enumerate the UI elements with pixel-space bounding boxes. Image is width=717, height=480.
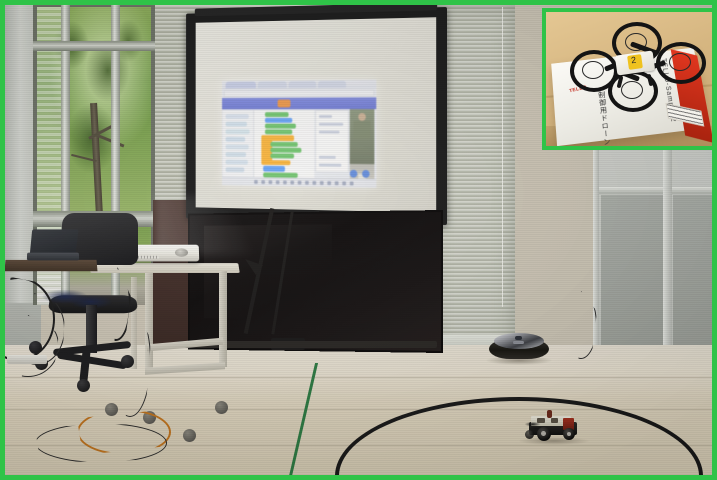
cable [35,423,167,463]
panel-row [319,131,339,134]
palette-category[interactable] [226,129,250,134]
properties-panel[interactable] [315,110,349,173]
palette-category[interactable] [226,114,249,119]
rover-wheel-hub [567,432,571,436]
end-call-button[interactable] [362,170,370,178]
partition-panel [673,195,712,365]
taskbar-icon[interactable] [350,181,354,185]
palette-category[interactable] [226,144,249,149]
projected-desktop [222,80,376,188]
script-canvas[interactable] [254,110,314,180]
laptop-keyboard [27,253,79,261]
participant-head [358,113,366,121]
cart-leg [219,271,227,367]
script-block[interactable] [265,129,292,134]
taskbar-icon[interactable] [312,181,316,185]
cart-caster [105,403,118,416]
palette-category[interactable] [226,152,246,157]
control-block-bottom[interactable] [261,160,290,165]
participant-body [354,121,371,139]
propeller [669,53,691,71]
cart-caster [215,401,228,414]
app-logo-icon [278,100,291,108]
robot-vacuum-cleaner [489,331,549,359]
partition-frame [663,143,672,373]
line-following-robot [523,410,585,444]
script-block[interactable] [270,142,297,147]
script-block[interactable] [265,124,296,129]
partition-frame [593,143,599,373]
palette-category[interactable] [226,160,248,165]
taskbar-icon[interactable] [320,181,324,185]
vacuum-power-button[interactable] [513,341,524,344]
browser-tab[interactable] [289,81,317,88]
browser-url-bar[interactable] [224,89,375,97]
panel-row [319,156,336,159]
taskbar-icon[interactable] [327,181,331,185]
palette-category[interactable] [226,122,247,127]
browser-tab[interactable] [226,82,256,89]
window-transom [33,41,155,51]
script-block[interactable] [263,166,285,172]
rover-wheel [537,427,551,441]
vacuum-sensor [515,336,522,340]
palette-category[interactable] [226,167,245,172]
taskbar-icon[interactable] [335,181,339,185]
taskbar-icon[interactable] [298,181,302,185]
taskbar-icon[interactable] [283,180,287,184]
rover-wheel-hub [541,431,546,436]
propeller [621,81,643,99]
power-strip[interactable] [7,355,47,364]
panel-row [319,123,343,126]
panel-row [319,115,332,118]
palette-category[interactable] [226,137,246,142]
tello-drone: 2 [568,20,702,108]
taskbar-icon[interactable] [261,180,265,184]
partition-wall [593,143,712,373]
chair-caster [77,379,90,392]
partition-rail [593,187,712,194]
call-button[interactable] [350,170,358,178]
blind-cord[interactable] [502,7,503,307]
cart-caster [183,429,196,442]
rover-sensor-mast [547,410,552,418]
projector-lens [175,248,188,256]
video-call-participant[interactable] [350,109,375,164]
browser-tab[interactable] [318,81,346,88]
dark-wooden-desk [5,260,97,271]
browser-tab[interactable] [258,81,287,88]
projection-screen [186,7,447,225]
rover-wheel [563,428,575,440]
floor-reflection [5,345,712,401]
propeller [582,61,604,79]
taskbar-icon[interactable] [269,180,273,184]
screen-surface [196,17,437,213]
panel-row [319,164,341,167]
taskbar-icon[interactable] [290,181,294,185]
rover-wheel [525,430,534,439]
photo-frame: TELLO-Sample-2 制御用ドローン TELLO 2 [0,0,717,480]
block-palette[interactable] [223,110,254,177]
taskbar-icon[interactable] [276,180,280,184]
os-taskbar[interactable] [222,177,376,188]
script-block[interactable] [265,118,292,123]
floor-seam [5,377,712,378]
taskbar-icon[interactable] [305,181,309,185]
taskbar-icon[interactable] [254,180,258,184]
taskbar-icon[interactable] [342,181,346,185]
partition-panel [601,195,663,365]
rover-chip [551,418,558,423]
script-block[interactable] [270,153,294,158]
inset-photo-drone: TELLO-Sample-2 制御用ドローン TELLO 2 [542,8,717,150]
control-block-top[interactable] [261,135,294,141]
app-menu-bar [222,97,376,109]
script-block[interactable] [270,148,301,153]
script-block[interactable] [265,112,289,117]
laptop-screen [30,229,79,254]
